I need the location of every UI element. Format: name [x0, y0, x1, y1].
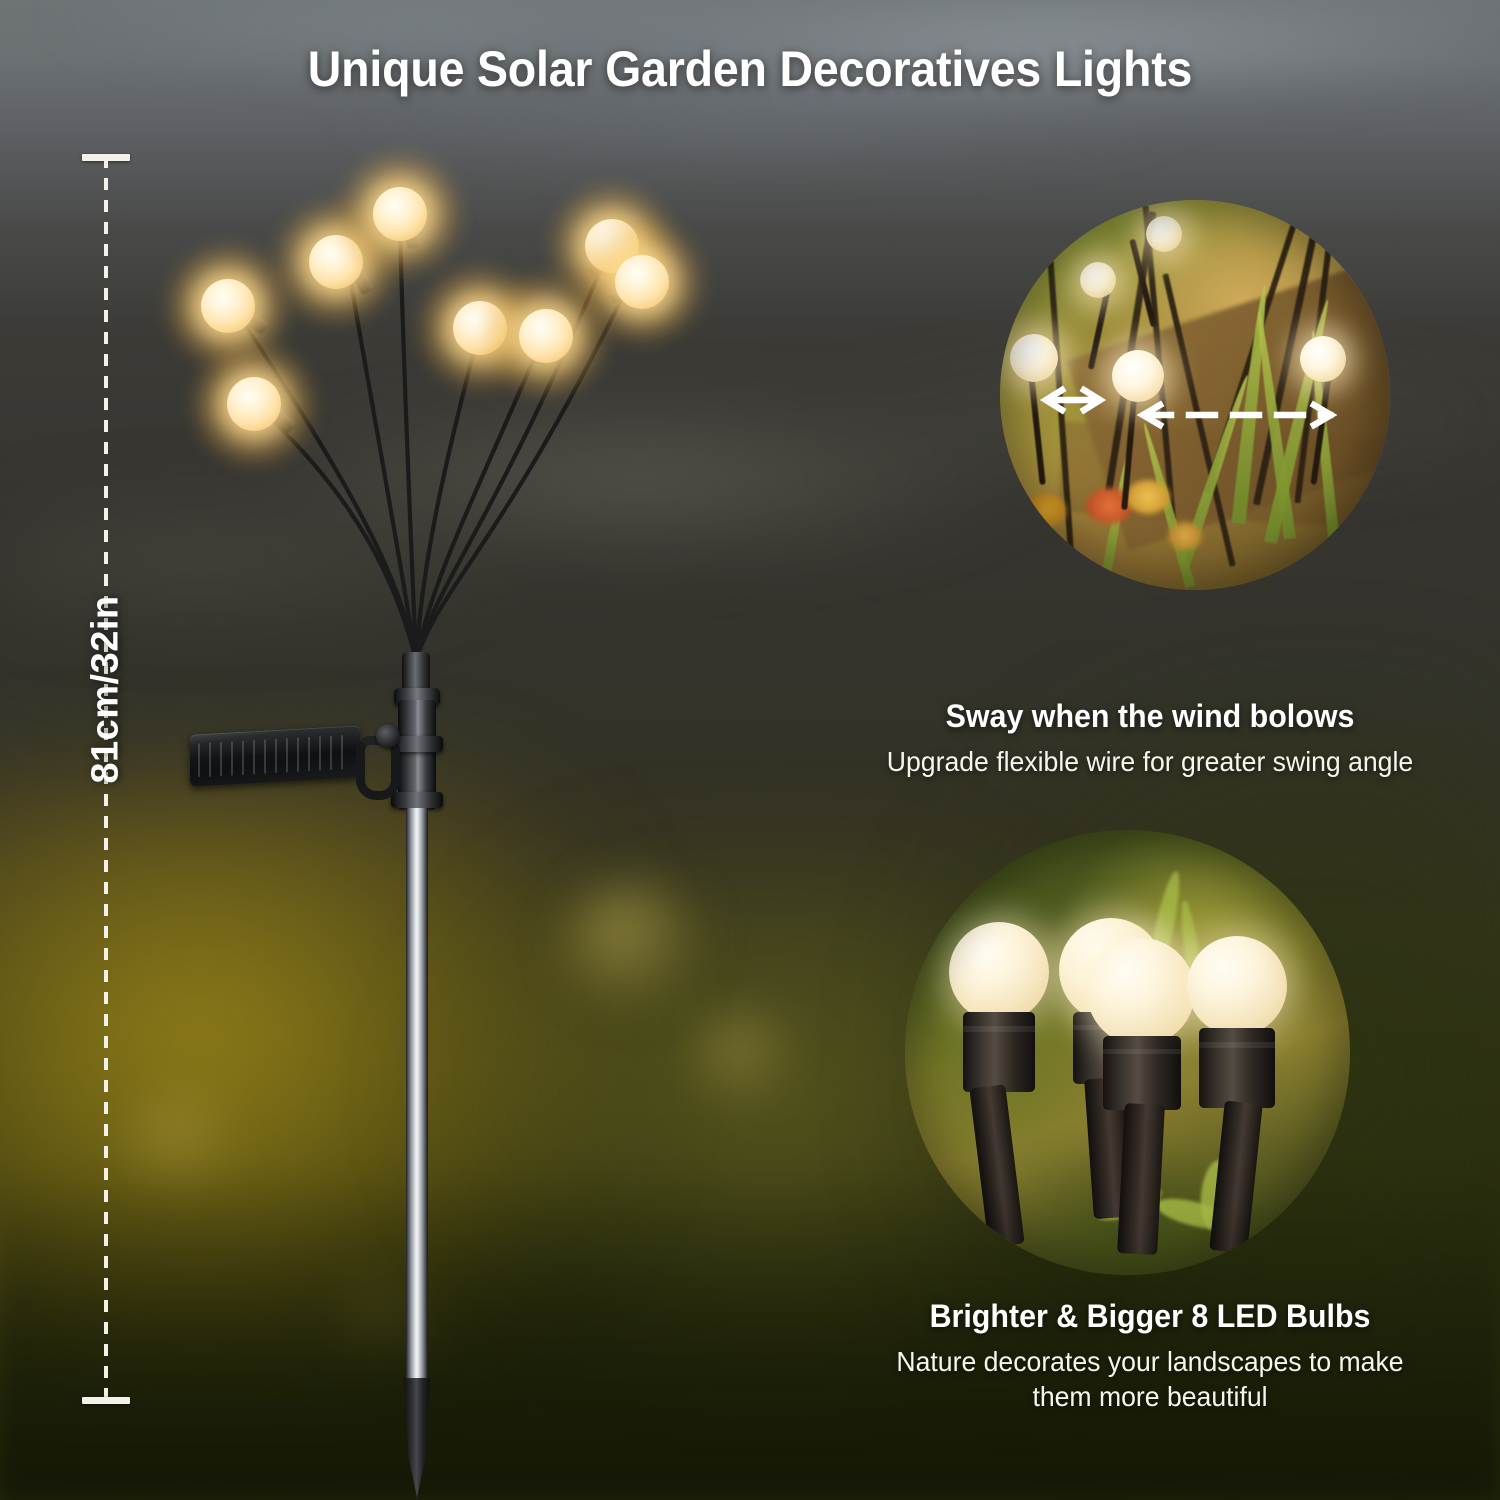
- bulb-stalk: [1209, 1100, 1262, 1253]
- short-double-arrow-icon: [1046, 390, 1100, 410]
- bulb-orb: [373, 187, 427, 241]
- led-bulb: [369, 183, 431, 245]
- bulb-orb: [227, 377, 281, 431]
- bulb-orb: [519, 309, 573, 363]
- feature-image-sway: [1000, 200, 1390, 590]
- bulb-glass: [1087, 938, 1195, 1046]
- feature-caption-sway: Sway when the wind bolows Upgrade flexib…: [810, 698, 1490, 779]
- feature-title-bulbs: Brighter & Bigger 8 LED Bulbs: [827, 1298, 1473, 1335]
- swing-arrow-annotations: [1000, 200, 1390, 590]
- feature-subtitle-bulbs-line2: them more beautiful: [827, 1379, 1473, 1414]
- closeup-bulb: [945, 922, 1065, 1242]
- feature-image-bulbs: [905, 830, 1350, 1275]
- bulb-orb: [201, 279, 255, 333]
- pivot-bracket: [346, 726, 412, 818]
- bulb-glass: [949, 922, 1049, 1022]
- feature-subtitle-bulbs: Nature decorates your landscapes to make…: [827, 1344, 1473, 1415]
- ruler-cap-bottom: [82, 1397, 130, 1404]
- bulb-glass: [1187, 936, 1287, 1036]
- led-bulb: [197, 275, 259, 337]
- led-bulb: [515, 305, 577, 367]
- bulb-stalk: [969, 1084, 1024, 1247]
- feature-caption-bulbs: Brighter & Bigger 8 LED Bulbs Nature dec…: [810, 1298, 1490, 1415]
- height-dimension-ruler: 81cm/32in: [76, 148, 140, 1410]
- solar-panel: [190, 725, 360, 787]
- feature-subtitle-bulbs-line1: Nature decorates your landscapes to make: [827, 1344, 1473, 1379]
- solar-firefly-garden-stake-light: [150, 140, 730, 1440]
- metal-pole: [406, 808, 428, 1388]
- feature-title-sway: Sway when the wind bolows: [827, 698, 1473, 735]
- led-bulb: [223, 373, 285, 435]
- product-infographic: Unique Solar Garden Decoratives Lights 8…: [0, 0, 1500, 1500]
- bulb-stalk: [1117, 1103, 1165, 1255]
- bulb-cap: [1103, 1036, 1181, 1110]
- long-dashed-double-arrow-icon: [1143, 405, 1331, 425]
- bulb-cap: [1199, 1028, 1275, 1108]
- page-title: Unique Solar Garden Decoratives Lights: [53, 40, 1448, 98]
- closeup-bulb: [1183, 936, 1303, 1236]
- bulb-cap: [963, 1012, 1035, 1092]
- bulb-orb: [615, 255, 669, 309]
- bracket-pivot-knob: [376, 724, 400, 748]
- dimension-label: 81cm/32in: [85, 480, 128, 900]
- feature-subtitle-sway: Upgrade flexible wire for greater swing …: [827, 744, 1473, 779]
- led-bulb: [611, 251, 673, 313]
